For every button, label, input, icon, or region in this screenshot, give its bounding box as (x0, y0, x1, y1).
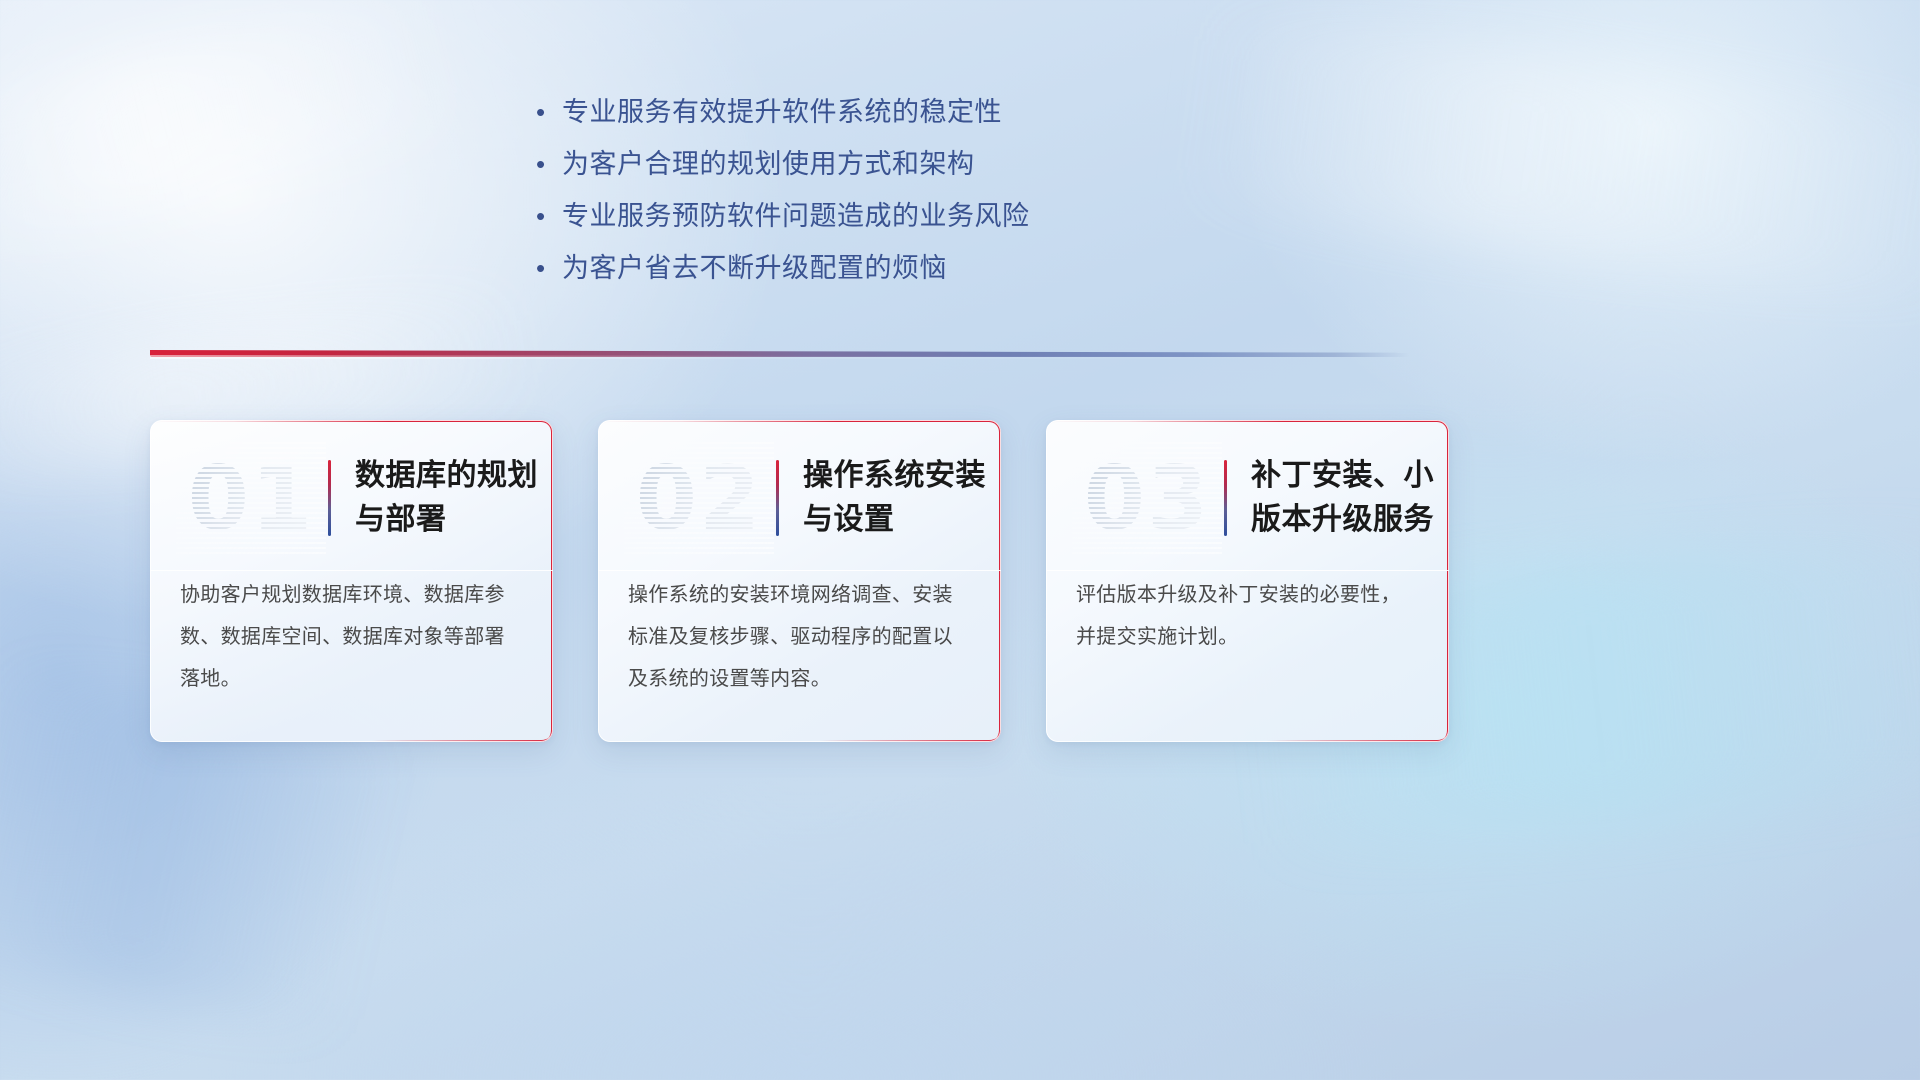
card-description: 评估版本升级及补丁安装的必要性，并提交实施计划。 (1076, 574, 1419, 658)
card-number-watermark: 03 (1072, 442, 1222, 554)
card-title: 操作系统安装与设置 (803, 454, 1001, 542)
service-card-group: 01 数据库的规划与部署 协助客户规划数据库环境、数据库参数、数据库空间、数据库… (150, 420, 1450, 745)
bullet-text: 为客户合理的规划使用方式和架构 (562, 144, 975, 184)
section-divider (150, 344, 1410, 366)
bullet-dot-icon: • (536, 144, 562, 184)
card-divider-line (1224, 460, 1227, 536)
light-streak (1170, 4, 1920, 316)
card-title: 数据库的规划与部署 (355, 454, 553, 542)
benefits-bullet-list: • 专业服务有效提升软件系统的稳定性 • 为客户合理的规划使用方式和架构 • 专… (536, 92, 1276, 300)
card-header: 01 数据库的规划与部署 (150, 420, 553, 570)
service-card[interactable]: 03 补丁安装、小版本升级服务 评估版本升级及补丁安装的必要性，并提交实施计划。 (1046, 420, 1449, 742)
bullet-dot-icon: • (536, 196, 562, 236)
list-item: • 专业服务预防软件问题造成的业务风险 (536, 196, 1276, 248)
card-description: 协助客户规划数据库环境、数据库参数、数据库空间、数据库对象等部署落地。 (180, 574, 523, 700)
service-card[interactable]: 01 数据库的规划与部署 协助客户规划数据库环境、数据库参数、数据库空间、数据库… (150, 420, 553, 742)
bullet-text: 专业服务预防软件问题造成的业务风险 (562, 196, 1030, 236)
card-header: 02 操作系统安装与设置 (598, 420, 1001, 570)
card-divider-line (328, 460, 331, 536)
card-separator (1046, 570, 1449, 571)
card-separator (598, 570, 1001, 571)
card-title: 补丁安装、小版本升级服务 (1251, 454, 1449, 542)
bullet-dot-icon: • (536, 248, 562, 288)
light-streak (0, 0, 470, 251)
bullet-text: 为客户省去不断升级配置的烦恼 (562, 248, 947, 288)
bullet-dot-icon: • (536, 92, 562, 132)
list-item: • 专业服务有效提升软件系统的稳定性 (536, 92, 1276, 144)
card-description: 操作系统的安装环境网络调查、安装标准及复核步骤、驱动程序的配置以及系统的设置等内… (628, 574, 971, 700)
card-number-watermark: 02 (624, 442, 774, 554)
bullet-text: 专业服务有效提升软件系统的稳定性 (562, 92, 1002, 132)
service-card[interactable]: 02 操作系统安装与设置 操作系统的安装环境网络调查、安装标准及复核步骤、驱动程… (598, 420, 1001, 742)
list-item: • 为客户合理的规划使用方式和架构 (536, 144, 1276, 196)
card-header: 03 补丁安装、小版本升级服务 (1046, 420, 1449, 570)
card-separator (150, 570, 553, 571)
card-divider-line (776, 460, 779, 536)
card-number-watermark: 01 (176, 442, 326, 554)
list-item: • 为客户省去不断升级配置的烦恼 (536, 248, 1276, 300)
